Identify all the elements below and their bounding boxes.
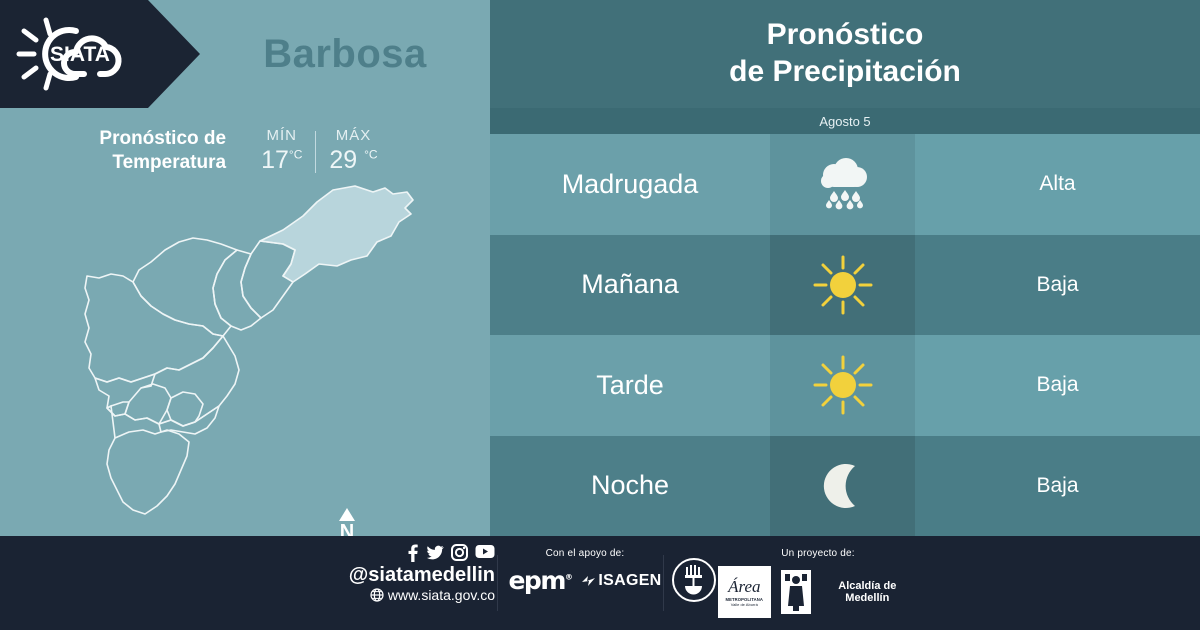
forecast-level-cell: Alta xyxy=(915,134,1200,235)
map-region-itagui[interactable] xyxy=(125,384,171,424)
period-label: Noche xyxy=(591,470,669,501)
level-label: Baja xyxy=(1036,273,1078,297)
temperature-max-label: MÁX xyxy=(329,127,377,144)
siata-logo-badge[interactable]: SIATA xyxy=(0,0,200,108)
map-region-west-north[interactable] xyxy=(85,274,223,382)
level-label: Baja xyxy=(1036,474,1078,498)
isagen-mark-icon xyxy=(581,574,596,588)
footer-divider-1 xyxy=(497,555,498,611)
forecast-title-line1: Pronóstico xyxy=(729,17,961,54)
temperature-divider xyxy=(315,131,316,173)
table-row[interactable]: Madrugada xyxy=(490,134,1200,235)
period-label: Mañana xyxy=(581,269,679,300)
temperature-min: MÍN 17°C xyxy=(248,127,315,175)
epm-logo[interactable]: epm® xyxy=(508,566,571,595)
forecast-period-cell: Mañana xyxy=(490,235,770,336)
moon-icon xyxy=(814,457,872,515)
support-caption: Con el apoyo de: xyxy=(510,548,660,559)
forecast-level-cell: Baja xyxy=(915,335,1200,436)
temperature-max-value: 29 °C xyxy=(329,146,377,175)
youtube-icon[interactable] xyxy=(475,544,495,559)
website-url: www.siata.gov.co xyxy=(388,587,495,603)
rain-cloud-icon xyxy=(812,153,874,215)
max-unit: °C xyxy=(364,148,377,162)
temperature-max: MÁX 29 °C xyxy=(316,127,390,175)
isagen-text: ISAGEN xyxy=(598,572,661,590)
table-row[interactable]: Mañana xyxy=(490,235,1200,336)
table-row[interactable]: Noche Baja xyxy=(490,436,1200,537)
forecast-level-cell: Baja xyxy=(915,436,1200,537)
globe-icon xyxy=(370,588,384,602)
map-region-bello[interactable] xyxy=(133,238,237,336)
sun-icon xyxy=(812,354,874,416)
project-block: Un proyecto de: Área METROPOLITANA Valle… xyxy=(718,548,918,618)
sun-icon xyxy=(812,254,874,316)
forecast-period-cell: Madrugada xyxy=(490,134,770,235)
footer: @siatamedellin www.siata.gov.co Con el a… xyxy=(0,536,1200,630)
siata-logo-text: SIATA xyxy=(50,43,110,66)
project-logos: Área METROPOLITANA Valle de Aburrá xyxy=(718,566,918,618)
forecast-title-line2: de Precipitación xyxy=(729,54,961,91)
weather-infographic: SIATA Barbosa Pronóstico de Temperatura … xyxy=(0,0,1200,630)
forecast-icon-cell xyxy=(770,335,915,436)
raindrops xyxy=(826,190,863,209)
forecast-icon-cell xyxy=(770,134,915,235)
temperature-values: MÍN 17°C MÁX 29 °C xyxy=(248,127,391,175)
social-icons xyxy=(300,544,495,562)
left-panel: SIATA Barbosa Pronóstico de Temperatura … xyxy=(0,0,490,536)
temperature-title: Pronóstico de Temperatura xyxy=(99,127,226,175)
epm-text: epm xyxy=(508,566,564,595)
temperature-min-value: 17°C xyxy=(261,146,302,175)
city-name: Barbosa xyxy=(200,0,490,108)
aburra-valley-map: N xyxy=(55,178,455,528)
min-unit: °C xyxy=(289,148,302,162)
area-metropolitana-logo[interactable]: Área METROPOLITANA Valle de Aburrá xyxy=(718,566,771,618)
instagram-icon[interactable] xyxy=(451,544,468,561)
website-line[interactable]: www.siata.gov.co xyxy=(300,587,495,603)
map-inner-borders xyxy=(107,374,155,438)
forecast-date: Agosto 5 xyxy=(490,108,1200,134)
alcaldia-block[interactable]: Alcaldía de Medellín xyxy=(781,570,918,614)
temperature-block: Pronóstico de Temperatura MÍN 17°C MÁX 2… xyxy=(0,116,490,186)
temperature-title-line2: Temperatura xyxy=(99,151,226,175)
max-number: 29 xyxy=(329,146,357,174)
support-block: Con el apoyo de: epm® ISAGEN xyxy=(510,548,660,595)
udea-crest-icon xyxy=(679,564,709,596)
project-caption: Un proyecto de: xyxy=(718,548,918,559)
map-region-laestrella[interactable] xyxy=(107,402,129,416)
map-svg xyxy=(55,178,455,528)
temperature-min-label: MÍN xyxy=(261,127,302,144)
level-label: Alta xyxy=(1039,172,1075,196)
table-row[interactable]: Tarde xyxy=(490,335,1200,436)
forecast-header: Pronóstico de Precipitación xyxy=(490,0,1200,108)
north-arrow-head xyxy=(339,508,355,521)
alcaldia-label: Alcaldía de Medellín xyxy=(817,580,918,604)
period-label: Madrugada xyxy=(562,169,699,200)
social-handle[interactable]: @siatamedellin xyxy=(300,564,495,587)
min-number: 17 xyxy=(261,146,289,174)
alcaldia-crest-icon xyxy=(781,570,811,614)
udea-seal-block xyxy=(672,558,722,602)
forecast-icon-cell xyxy=(770,235,915,336)
period-label: Tarde xyxy=(596,370,664,401)
temperature-title-line1: Pronóstico de xyxy=(99,127,226,151)
facebook-icon[interactable] xyxy=(406,544,419,562)
forecast-icon-cell xyxy=(770,436,915,537)
forecast-title: Pronóstico de Precipitación xyxy=(729,17,961,90)
area-line2: Valle de Aburrá xyxy=(731,602,758,607)
map-region-caldas[interactable] xyxy=(107,430,189,514)
footer-divider-2 xyxy=(663,555,664,611)
forecast-period-cell: Noche xyxy=(490,436,770,537)
forecast-period-cell: Tarde xyxy=(490,335,770,436)
isagen-logo[interactable]: ISAGEN xyxy=(581,572,661,590)
map-region-barbosa[interactable] xyxy=(260,186,413,282)
map-region-envigado[interactable] xyxy=(159,406,219,434)
support-logos: epm® ISAGEN xyxy=(510,566,660,595)
alcaldia-shield-icon xyxy=(781,570,811,614)
level-label: Baja xyxy=(1036,373,1078,397)
twitter-icon[interactable] xyxy=(426,544,444,562)
udea-seal-icon[interactable] xyxy=(672,558,716,602)
area-script-text: Área xyxy=(728,578,760,595)
forecast-grid: Madrugada xyxy=(490,134,1200,536)
social-block: @siatamedellin www.siata.gov.co xyxy=(300,544,495,603)
siata-sun-cloud-logo: SIATA xyxy=(14,17,134,91)
forecast-panel: Pronóstico de Precipitación Agosto 5 Mad… xyxy=(490,0,1200,536)
forecast-level-cell: Baja xyxy=(915,235,1200,336)
